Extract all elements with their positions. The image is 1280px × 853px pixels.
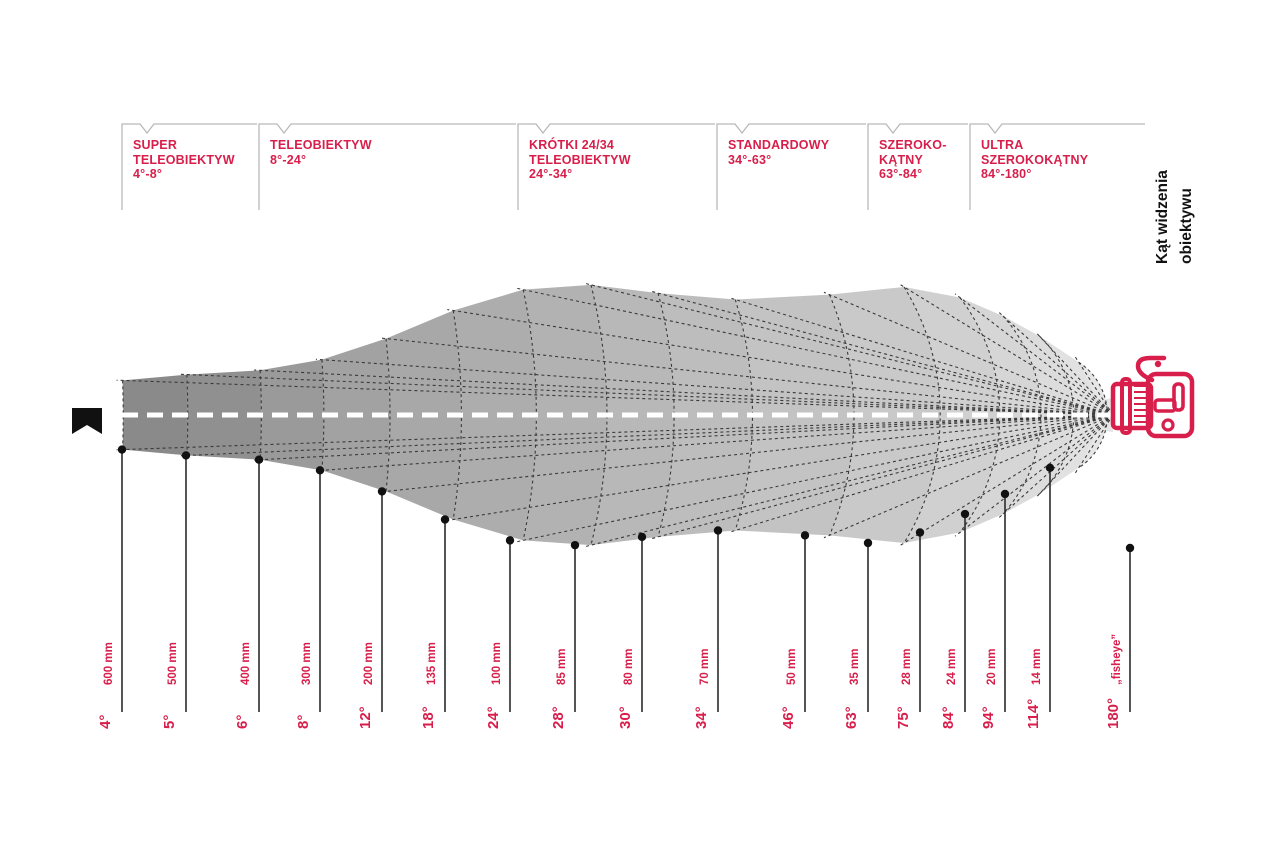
tick-degree-4deg: 4°: [97, 715, 114, 729]
tick-focal-85mm: 85 mm: [556, 649, 568, 685]
tick-focal-20mm: 20 mm: [986, 649, 998, 685]
measure-dot-18deg: [441, 515, 449, 523]
tick-degree-18deg: 18°: [420, 706, 437, 729]
measure-dot-5deg: [182, 451, 190, 459]
field-of-view-diagram: [0, 0, 1280, 853]
flag-marker-bar: [72, 408, 102, 413]
measure-dot-34deg: [714, 526, 722, 534]
tick-focal-300mm: 300 mm: [301, 642, 313, 685]
category-label-tele: TELEOBIEKTYW 8°-24°: [270, 138, 372, 167]
tick-focal-14mm: 14 mm: [1031, 649, 1043, 685]
measure-dot-46deg: [801, 531, 809, 539]
measure-dot-30deg: [638, 533, 646, 541]
category-label-wide: SZEROKO- KĄTNY 63°-84°: [879, 138, 947, 182]
category-label-standard: STANDARDOWY 34°-63°: [728, 138, 829, 167]
tick-degree-12deg: 12°: [357, 706, 374, 729]
tick-focal-28mm: 28 mm: [901, 649, 913, 685]
fov-band-6deg: [260, 360, 324, 471]
tick-degree-63deg: 63°: [843, 706, 860, 729]
camera-icon[interactable]: [1113, 358, 1192, 436]
camera-shutter: [1155, 361, 1161, 367]
tick-degree-30deg: 30°: [617, 706, 634, 729]
category-bracket-tele: [259, 124, 516, 210]
category-bracket-standard: [717, 124, 866, 210]
tick-focal-100mm: 100 mm: [491, 642, 503, 685]
infographic-canvas: SUPER TELEOBIEKTYW 4°-8°TELEOBIEKTYW 8°-…: [0, 0, 1280, 853]
category-label-short-tele: KRÓTKI 24/34 TELEOBIEKTYW 24°-34°: [529, 138, 631, 182]
tick-degree-5deg: 5°: [161, 715, 178, 729]
tick-focal-80mm: 80 mm: [623, 649, 635, 685]
tick-degree-34deg: 34°: [693, 706, 710, 729]
measure-dot-75deg: [916, 528, 924, 536]
tick-focal-600mm: 600 mm: [103, 642, 115, 685]
measure-dot-6deg: [255, 455, 263, 463]
tick-focal-fisheye: „fisheye”: [1111, 634, 1123, 685]
side-caption-line2: obiektywu: [1178, 188, 1196, 264]
tick-focal-35mm: 35 mm: [849, 649, 861, 685]
tick-focal-24mm: 24 mm: [946, 649, 958, 685]
tick-degree-8deg: 8°: [295, 715, 312, 729]
measure-dot-94deg: [1001, 490, 1009, 498]
flag-marker-icon: [72, 408, 102, 434]
measure-dot-114deg: [1046, 464, 1054, 472]
tick-degree-180deg: 180°: [1105, 698, 1122, 729]
camera-dial: [1163, 420, 1173, 430]
measure-dot-12deg: [378, 487, 386, 495]
tick-degree-28deg: 28°: [550, 706, 567, 729]
tick-focal-50mm: 50 mm: [786, 649, 798, 685]
tick-degree-24deg: 24°: [485, 706, 502, 729]
measure-dot-8deg: [316, 466, 324, 474]
measure-dot-63deg: [864, 539, 872, 547]
tick-focal-500mm: 500 mm: [167, 642, 179, 685]
tick-degree-114deg: 114°: [1025, 699, 1042, 729]
tick-degree-75deg: 75°: [895, 706, 912, 729]
tick-focal-135mm: 135 mm: [426, 642, 438, 685]
category-label-ultra-wide: ULTRA SZEROKOKĄTNY 84°-180°: [981, 138, 1088, 182]
tick-focal-70mm: 70 mm: [699, 649, 711, 685]
category-label-super-tele: SUPER TELEOBIEKTYW 4°-8°: [133, 138, 235, 182]
tick-degree-46deg: 46°: [780, 706, 797, 729]
side-caption-line1: Kąt widzenia: [1154, 170, 1172, 264]
measure-dot-24deg: [506, 536, 514, 544]
camera-screen: [1155, 400, 1175, 411]
measure-dot-180deg: [1126, 544, 1134, 552]
measure-dot-84deg: [961, 510, 969, 518]
tick-focal-400mm: 400 mm: [240, 642, 252, 685]
measure-dot-4deg: [118, 445, 126, 453]
camera-lens-ring: [1122, 379, 1130, 433]
tick-degree-6deg: 6°: [234, 715, 251, 729]
tick-degree-94deg: 94°: [980, 706, 997, 729]
tick-degree-84deg: 84°: [940, 706, 957, 729]
tick-focal-200mm: 200 mm: [363, 642, 375, 685]
measure-dot-28deg: [571, 541, 579, 549]
